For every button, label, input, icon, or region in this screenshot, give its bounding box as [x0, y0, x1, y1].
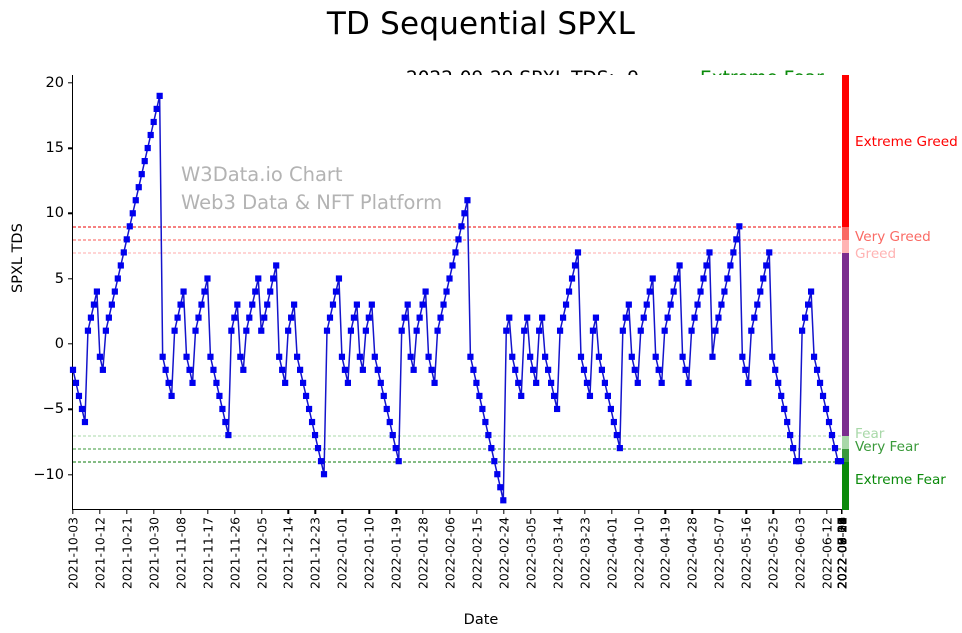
series-marker — [775, 380, 781, 386]
series-marker — [228, 328, 234, 334]
y-axis-label: SPXL TDS — [10, 223, 26, 293]
series-marker — [542, 354, 548, 360]
series-marker — [279, 367, 285, 373]
series-marker — [100, 367, 106, 373]
series-marker — [832, 445, 838, 451]
series-marker — [261, 315, 267, 321]
series-marker — [730, 249, 736, 255]
series-marker — [396, 458, 402, 464]
series-marker — [581, 367, 587, 373]
series-line — [73, 96, 841, 500]
series-marker — [823, 406, 829, 412]
series-marker — [452, 249, 458, 255]
series-marker — [724, 275, 730, 281]
series-marker — [425, 354, 431, 360]
series-marker — [420, 302, 426, 308]
series-marker — [721, 288, 727, 294]
series-marker — [375, 367, 381, 373]
series-marker — [300, 380, 306, 386]
series-marker — [530, 367, 536, 373]
series-marker — [303, 393, 309, 399]
series-marker — [330, 302, 336, 308]
series-marker — [820, 393, 826, 399]
series-marker — [521, 328, 527, 334]
zone-bar-segment — [842, 462, 849, 510]
series-marker — [656, 367, 662, 373]
series-marker — [745, 380, 751, 386]
series-marker — [172, 328, 178, 334]
series-marker — [518, 393, 524, 399]
x-tick-label: 2022-01-19 — [389, 517, 404, 589]
y-tick-label: −5 — [43, 401, 73, 417]
series-marker — [715, 315, 721, 321]
series-marker — [130, 210, 136, 216]
series-marker — [360, 367, 366, 373]
series-marker — [470, 367, 476, 373]
series-marker — [829, 432, 835, 438]
series-marker — [204, 275, 210, 281]
series-marker — [291, 302, 297, 308]
series-marker — [440, 302, 446, 308]
series-marker — [590, 328, 596, 334]
series-marker — [608, 406, 614, 412]
series-marker — [742, 367, 748, 373]
series-marker — [506, 315, 512, 321]
series-marker — [148, 132, 154, 138]
series-marker — [766, 249, 772, 255]
series-marker — [276, 354, 282, 360]
x-tick-label: 2022-03-05 — [523, 517, 538, 589]
x-tick-label: 2021-11-26 — [227, 517, 242, 589]
series-marker — [679, 354, 685, 360]
series-marker — [668, 302, 674, 308]
x-tick-label: 2022-05-07 — [712, 517, 727, 589]
y-tick-label: 0 — [55, 336, 73, 352]
series-marker — [240, 367, 246, 373]
series-marker — [500, 497, 506, 503]
series-marker — [602, 380, 608, 386]
x-tick-label: 2022-02-24 — [496, 517, 511, 589]
series-marker — [213, 380, 219, 386]
series-marker — [575, 249, 581, 255]
series-marker — [578, 354, 584, 360]
series-marker — [712, 328, 718, 334]
series-marker — [294, 354, 300, 360]
series-marker — [763, 262, 769, 268]
series-marker — [611, 419, 617, 425]
series-marker — [620, 328, 626, 334]
series-marker — [434, 328, 440, 334]
chart-root: TD Sequential SPXL 2022-09-29 SPXL TDS: … — [0, 0, 962, 633]
x-tick-label: 2022-05-16 — [739, 517, 754, 589]
series-marker — [189, 380, 195, 386]
series-marker — [817, 380, 823, 386]
series-marker — [88, 315, 94, 321]
x-tick-mark — [584, 509, 585, 514]
series-marker — [584, 380, 590, 386]
series-marker — [246, 315, 252, 321]
series-marker — [180, 288, 186, 294]
zone-label: Very Fear — [855, 439, 919, 455]
x-tick-mark — [99, 509, 100, 514]
series-marker — [784, 419, 790, 425]
x-tick-label: 2022-06-03 — [793, 517, 808, 589]
y-tick-label: 10 — [46, 205, 73, 221]
x-tick-label: 2022-01-01 — [335, 517, 350, 589]
series-marker — [688, 328, 694, 334]
series-marker — [163, 367, 169, 373]
x-tick-label: 2021-11-17 — [200, 517, 215, 589]
series-marker — [297, 367, 303, 373]
series-marker — [548, 380, 554, 386]
series-marker — [431, 380, 437, 386]
series-marker — [411, 367, 417, 373]
x-tick-label: 2022-05-25 — [766, 517, 781, 589]
series-marker — [372, 354, 378, 360]
series-marker — [557, 328, 563, 334]
x-tick-label: 2022-09-28 — [835, 517, 850, 589]
x-tick-label: 2021-12-05 — [254, 517, 269, 589]
x-tick-mark — [342, 509, 343, 514]
series-marker — [225, 432, 231, 438]
series-marker — [479, 406, 485, 412]
series-marker — [733, 236, 739, 242]
zone-bar-segment — [842, 240, 849, 253]
x-tick-label: 2022-03-14 — [550, 517, 565, 589]
series-marker — [417, 315, 423, 321]
x-tick-label: 2021-11-08 — [173, 517, 188, 589]
series-marker — [617, 445, 623, 451]
series-marker — [207, 354, 213, 360]
series-marker — [626, 302, 632, 308]
series-marker — [121, 249, 127, 255]
series-marker — [136, 184, 142, 190]
series-marker — [192, 328, 198, 334]
series-marker — [267, 288, 273, 294]
x-tick-mark — [476, 509, 477, 514]
series-marker — [115, 275, 121, 281]
series-marker — [790, 445, 796, 451]
series-marker — [145, 145, 151, 151]
series-marker — [127, 223, 133, 229]
series-marker — [327, 315, 333, 321]
series-marker — [333, 288, 339, 294]
y-tick-label: −10 — [33, 467, 73, 483]
x-tick-mark — [799, 509, 800, 514]
series-marker — [467, 354, 473, 360]
series-marker — [482, 419, 488, 425]
series-marker — [186, 367, 192, 373]
x-tick-label: 2022-01-28 — [416, 517, 431, 589]
series-marker — [748, 328, 754, 334]
x-tick-label: 2022-04-28 — [685, 517, 700, 589]
series-marker — [285, 328, 291, 334]
zone-label: Extreme Greed — [855, 134, 958, 150]
tds-series — [73, 75, 841, 509]
x-tick-label: 2021-10-12 — [92, 517, 107, 589]
zone-bar-segment — [842, 227, 849, 240]
series-marker — [641, 315, 647, 321]
series-marker — [473, 380, 479, 386]
series-marker — [201, 288, 207, 294]
series-marker — [751, 315, 757, 321]
series-marker — [97, 354, 103, 360]
series-marker — [324, 328, 330, 334]
series-marker — [387, 419, 393, 425]
series-marker — [384, 406, 390, 412]
series-marker — [512, 367, 518, 373]
y-tick-label: 15 — [46, 140, 73, 156]
series-marker — [515, 380, 521, 386]
series-marker — [665, 315, 671, 321]
series-marker — [811, 354, 817, 360]
series-marker — [638, 328, 644, 334]
series-marker — [177, 302, 183, 308]
x-tick-label: 2022-06-12 — [820, 517, 835, 589]
zone-label: Very Greed — [855, 229, 931, 245]
series-marker — [554, 406, 560, 412]
series-marker — [647, 288, 653, 294]
series-marker — [814, 367, 820, 373]
series-marker — [318, 458, 324, 464]
x-axis-label: Date — [0, 612, 962, 628]
series-marker — [476, 393, 482, 399]
series-marker — [527, 354, 533, 360]
series-marker — [309, 419, 315, 425]
series-marker — [805, 302, 811, 308]
zone-bar-segment — [842, 75, 849, 227]
x-tick-label: 2021-12-14 — [281, 517, 296, 589]
series-marker — [363, 328, 369, 334]
series-marker — [151, 119, 157, 125]
series-marker — [677, 262, 683, 268]
zone-bar-segment — [842, 253, 849, 436]
series-marker — [237, 354, 243, 360]
series-marker — [778, 393, 784, 399]
series-marker — [357, 354, 363, 360]
series-marker — [781, 406, 787, 412]
series-marker — [76, 393, 82, 399]
x-tick-mark — [746, 509, 747, 514]
x-tick-mark — [449, 509, 450, 514]
series-marker — [369, 302, 375, 308]
series-marker — [629, 354, 635, 360]
series-marker — [757, 288, 763, 294]
series-marker — [491, 458, 497, 464]
series-marker — [772, 367, 778, 373]
series-marker — [587, 393, 593, 399]
x-tick-mark — [692, 509, 693, 514]
series-marker — [231, 315, 237, 321]
x-tick-mark — [126, 509, 127, 514]
x-tick-label: 2022-03-23 — [577, 517, 592, 589]
series-marker — [258, 328, 264, 334]
x-tick-mark — [180, 509, 181, 514]
series-marker — [219, 406, 225, 412]
series-marker — [685, 380, 691, 386]
x-tick-label: 2022-04-01 — [604, 517, 619, 589]
series-marker — [437, 315, 443, 321]
series-marker — [342, 367, 348, 373]
series-marker — [312, 432, 318, 438]
series-marker — [133, 197, 139, 203]
x-tick-label: 2021-10-21 — [119, 517, 134, 589]
series-marker — [249, 302, 255, 308]
x-tick-label: 2022-04-19 — [658, 517, 673, 589]
series-marker — [808, 288, 814, 294]
series-marker — [799, 328, 805, 334]
x-tick-label: 2022-01-10 — [362, 517, 377, 589]
x-tick-mark — [826, 509, 827, 514]
series-marker — [539, 315, 545, 321]
series-marker — [644, 302, 650, 308]
series-marker — [671, 288, 677, 294]
series-marker — [428, 367, 434, 373]
series-marker — [566, 288, 572, 294]
series-marker — [351, 315, 357, 321]
series-marker — [321, 471, 327, 477]
series-marker — [718, 302, 724, 308]
x-tick-mark — [288, 509, 289, 514]
series-marker — [103, 328, 109, 334]
series-marker — [736, 223, 742, 229]
x-tick-label: 2021-10-30 — [146, 517, 161, 589]
series-marker — [623, 315, 629, 321]
x-tick-label: 2022-02-15 — [469, 517, 484, 589]
series-marker — [650, 275, 656, 281]
series-marker — [73, 380, 79, 386]
series-marker — [157, 93, 163, 99]
series-marker — [494, 471, 500, 477]
series-marker — [533, 380, 539, 386]
series-marker — [709, 354, 715, 360]
series-marker — [82, 419, 88, 425]
series-marker — [769, 354, 775, 360]
series-marker — [449, 262, 455, 268]
series-marker — [109, 302, 115, 308]
series-marker — [455, 236, 461, 242]
series-marker — [222, 419, 228, 425]
x-tick-mark — [719, 509, 720, 514]
series-marker — [198, 302, 204, 308]
series-marker — [674, 275, 680, 281]
x-tick-mark — [369, 509, 370, 514]
series-marker — [599, 367, 605, 373]
series-marker — [85, 328, 91, 334]
series-marker — [635, 380, 641, 386]
series-marker — [70, 367, 76, 373]
series-marker — [210, 367, 216, 373]
zone-bar-segment — [842, 436, 849, 449]
series-marker — [739, 354, 745, 360]
series-marker — [551, 393, 557, 399]
series-marker — [662, 328, 668, 334]
x-tick-mark — [772, 509, 773, 514]
series-markers — [70, 93, 844, 504]
x-tick-mark — [530, 509, 531, 514]
series-marker — [593, 315, 599, 321]
x-tick-mark — [261, 509, 262, 514]
series-marker — [787, 432, 793, 438]
series-marker — [174, 315, 180, 321]
series-marker — [563, 302, 569, 308]
series-marker — [700, 275, 706, 281]
series-marker — [124, 236, 130, 242]
series-marker — [166, 380, 172, 386]
series-marker — [458, 223, 464, 229]
series-marker — [694, 302, 700, 308]
series-marker — [216, 393, 222, 399]
series-marker — [255, 275, 261, 281]
series-marker — [315, 445, 321, 451]
series-marker — [139, 171, 145, 177]
series-marker — [345, 380, 351, 386]
series-marker — [306, 406, 312, 412]
x-tick-mark — [638, 509, 639, 514]
series-marker — [545, 367, 551, 373]
series-marker — [569, 275, 575, 281]
series-marker — [402, 315, 408, 321]
series-marker — [91, 302, 97, 308]
x-tick-mark — [207, 509, 208, 514]
zone-label: Greed — [855, 246, 896, 262]
series-marker — [366, 315, 372, 321]
series-marker — [378, 380, 384, 386]
x-tick-mark — [665, 509, 666, 514]
series-marker — [142, 158, 148, 164]
x-tick-label: 2021-10-03 — [66, 517, 81, 589]
series-marker — [703, 262, 709, 268]
series-marker — [112, 288, 118, 294]
x-tick-mark — [557, 509, 558, 514]
zone-label: Extreme Fear — [855, 472, 946, 488]
series-marker — [118, 262, 124, 268]
series-marker — [524, 315, 530, 321]
x-tick-mark — [315, 509, 316, 514]
series-marker — [288, 315, 294, 321]
x-tick-mark — [153, 509, 154, 514]
y-tick-label: 20 — [46, 75, 73, 91]
series-marker — [393, 445, 399, 451]
series-marker — [195, 315, 201, 321]
series-marker — [390, 432, 396, 438]
series-marker — [760, 275, 766, 281]
series-marker — [503, 328, 509, 334]
series-marker — [234, 302, 240, 308]
series-marker — [414, 328, 420, 334]
series-marker — [754, 302, 760, 308]
series-marker — [509, 354, 515, 360]
series-marker — [154, 106, 160, 112]
series-marker — [497, 484, 503, 490]
x-tick-mark — [234, 509, 235, 514]
x-tick-mark — [422, 509, 423, 514]
x-tick-mark — [503, 509, 504, 514]
series-marker — [536, 328, 542, 334]
series-marker — [381, 393, 387, 399]
series-marker — [653, 354, 659, 360]
series-marker — [632, 367, 638, 373]
series-marker — [408, 354, 414, 360]
series-marker — [446, 275, 452, 281]
series-marker — [691, 315, 697, 321]
series-marker — [461, 210, 467, 216]
series-marker — [405, 302, 411, 308]
series-marker — [160, 354, 166, 360]
series-marker — [264, 302, 270, 308]
series-marker — [339, 354, 345, 360]
series-marker — [488, 445, 494, 451]
